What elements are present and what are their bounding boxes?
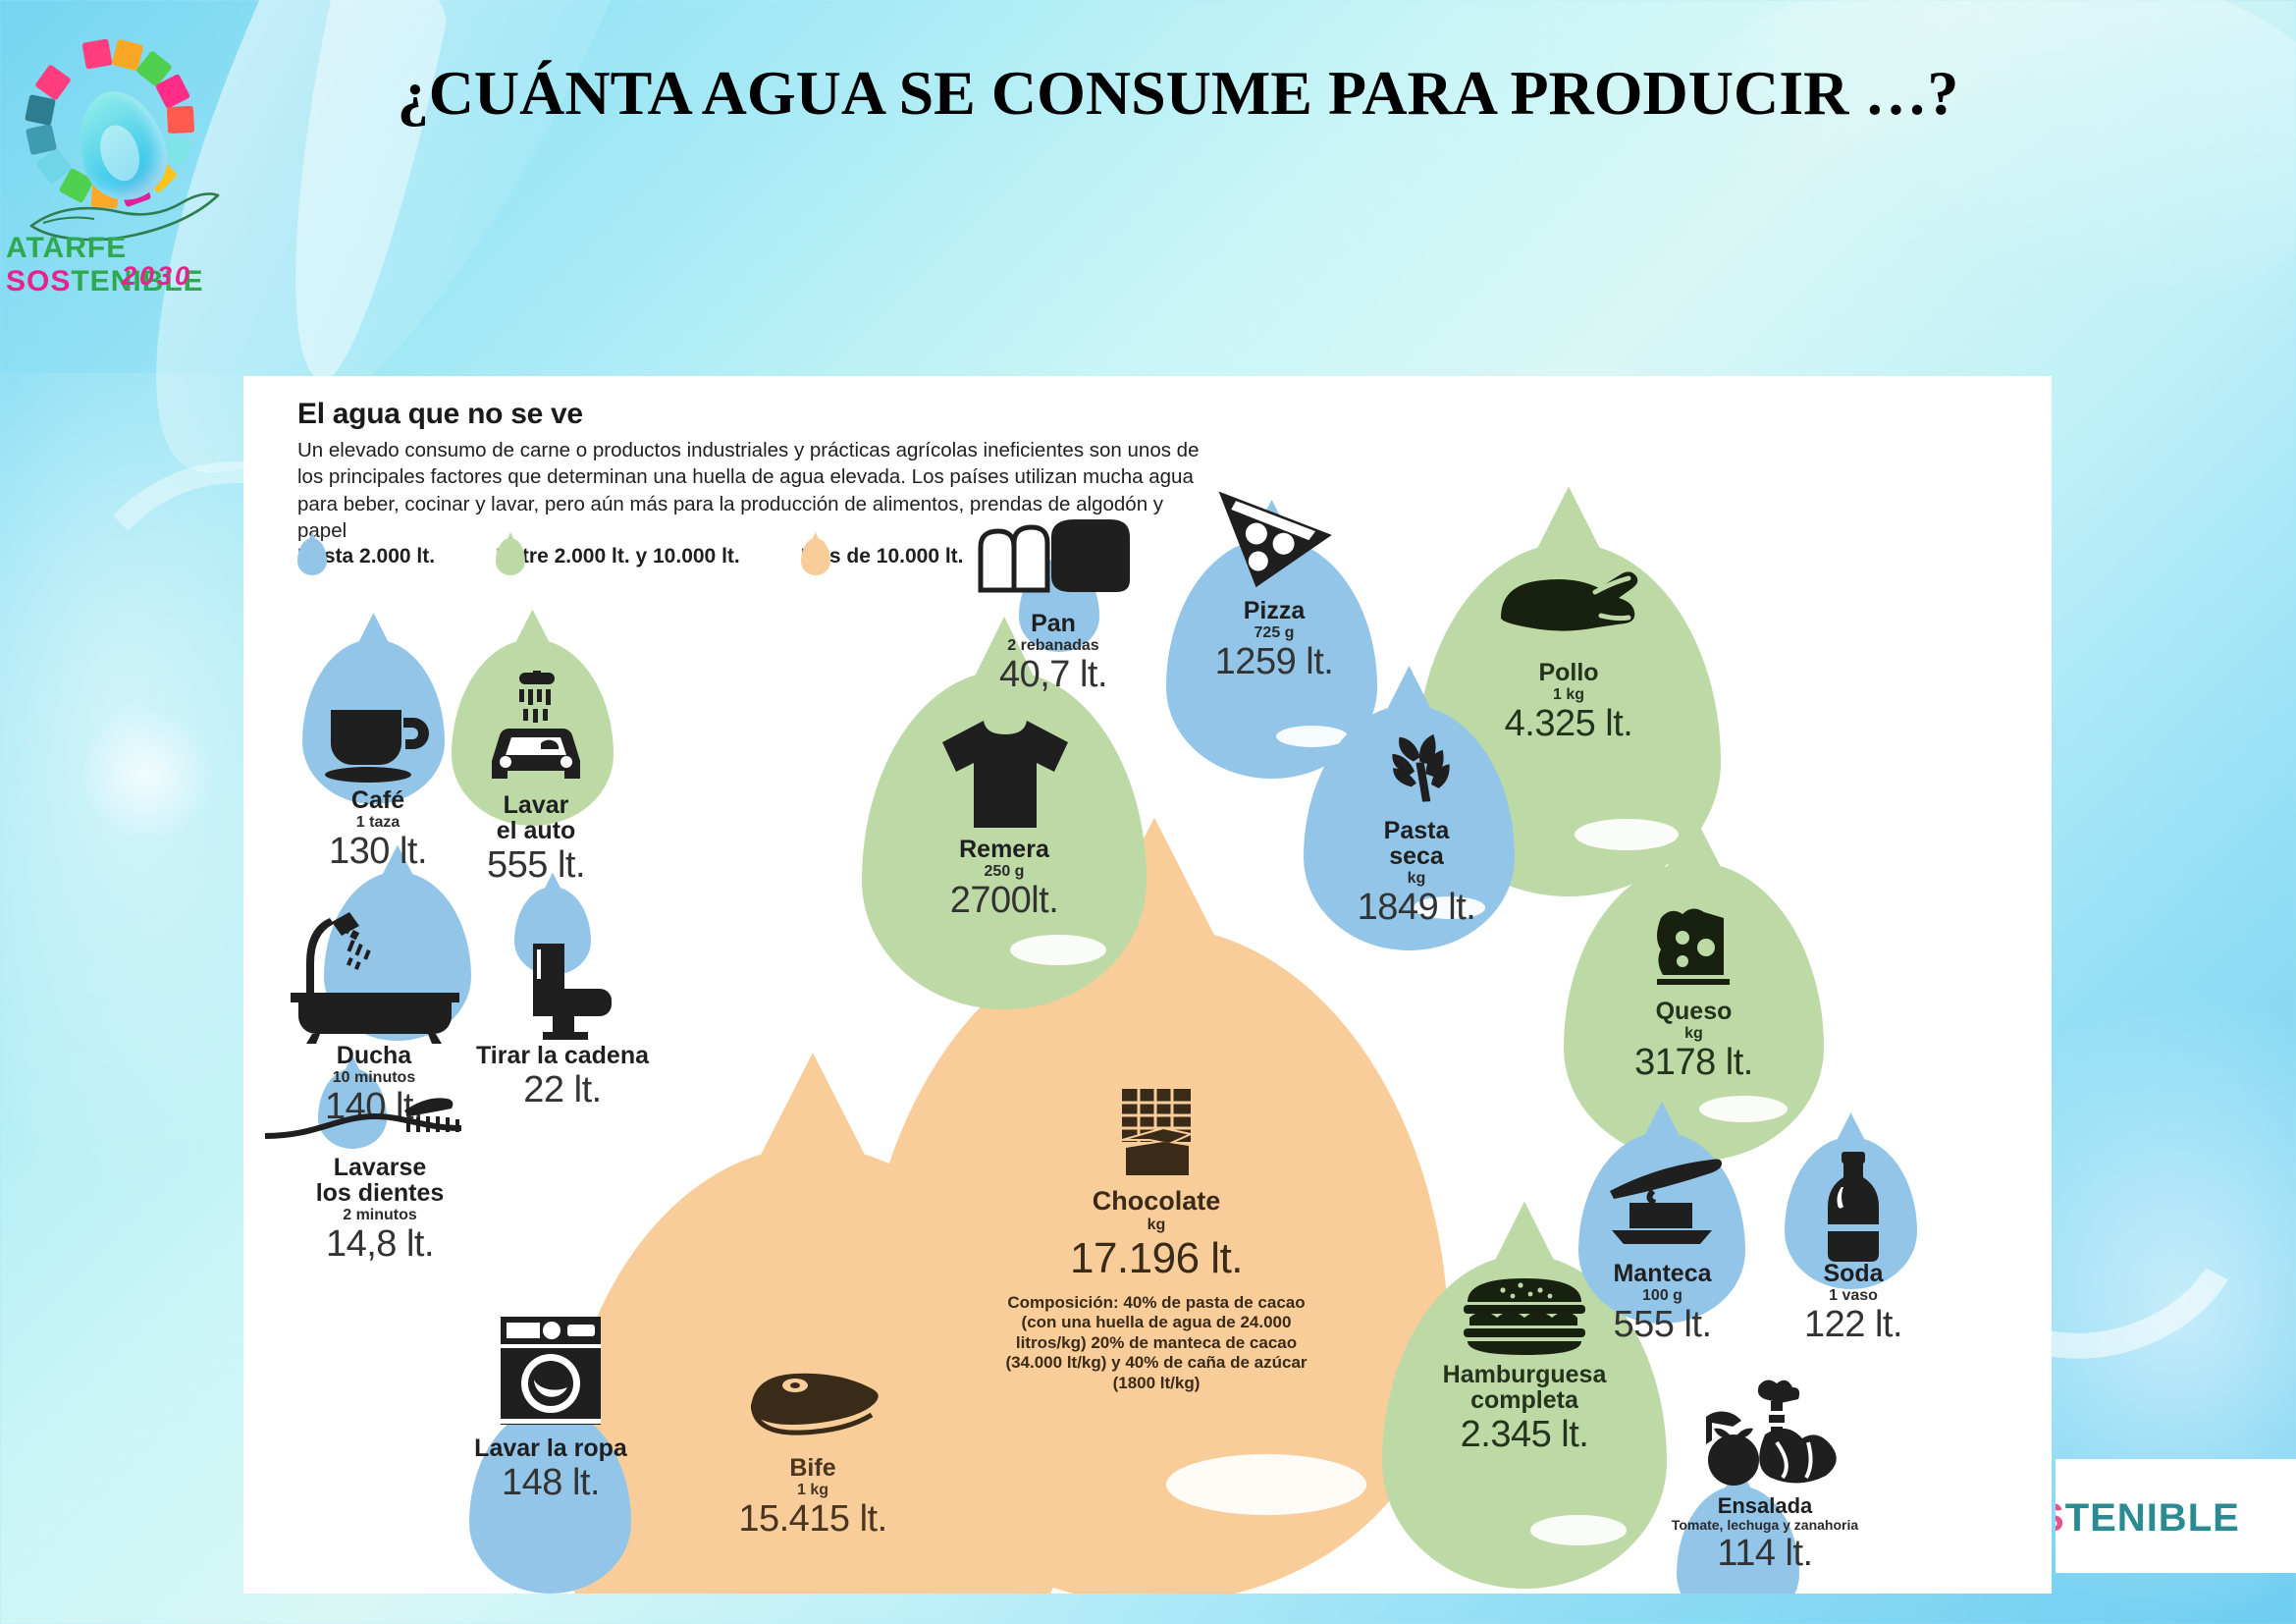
item-pan: Pan 2 rebanadas 40,7 lt. bbox=[931, 514, 1176, 696]
legend: Hasta 2.000 lt. Entre 2.000 lt. y 10.000… bbox=[297, 545, 1025, 568]
item-lavar-auto-value: 555 lt. bbox=[438, 844, 634, 887]
item-chocolate-sublabel: kg bbox=[999, 1217, 1313, 1234]
item-soda-label: Soda bbox=[1760, 1262, 1947, 1287]
item-soda-value: 122 lt. bbox=[1760, 1304, 1947, 1346]
item-tirar-cadena: Tirar la cadena 22 lt. bbox=[440, 926, 685, 1110]
item-bife: Bife 1 kg 15.415 lt. bbox=[666, 1358, 960, 1541]
legend-label-green: Entre 2.000 lt. y 10.000 lt. bbox=[496, 545, 740, 568]
item-pasta-seca: Pasta seca kg 1849 lt. bbox=[1304, 720, 1529, 929]
legend-item-green: Entre 2.000 lt. y 10.000 lt. bbox=[496, 545, 740, 568]
item-ensalada-label: Ensalada bbox=[1618, 1495, 1912, 1518]
item-remera-label: Remera bbox=[881, 838, 1127, 863]
item-bife-sublabel: 1 kg bbox=[666, 1482, 960, 1499]
item-remera-value: 2700lt. bbox=[881, 880, 1127, 922]
item-pan-sublabel: 2 rebanadas bbox=[931, 637, 1176, 655]
page-title: ¿CUÁNTA AGUA SE CONSUME PARA PRODUCIR …? bbox=[245, 61, 2110, 126]
salad-vegetables-icon bbox=[1686, 1378, 1843, 1495]
corner-logo: STENIBLE bbox=[2056, 1459, 2296, 1573]
hamburger-icon bbox=[1456, 1274, 1593, 1363]
item-chocolate-label: Chocolate bbox=[999, 1186, 1313, 1217]
item-lavar-ropa: Lavar la ropa 148 lt. bbox=[428, 1309, 673, 1503]
item-tirar-cadena-label: Tirar la cadena bbox=[440, 1044, 685, 1069]
item-pan-value: 40,7 lt. bbox=[931, 654, 1176, 696]
toothbrush-icon bbox=[257, 1093, 503, 1156]
item-ensalada-value: 114 lt. bbox=[1618, 1533, 1912, 1575]
item-remera-sublabel: 250 g bbox=[881, 863, 1127, 881]
car-wash-icon bbox=[472, 671, 600, 793]
item-pasta-seca-value: 1849 lt. bbox=[1304, 887, 1529, 929]
infographic-card: El agua que no se ve Un elevado consumo … bbox=[243, 376, 2052, 1594]
item-queso-label: Queso bbox=[1564, 1000, 1824, 1025]
item-pollo: Pollo 1 kg 4.325 lt. bbox=[1412, 563, 1726, 745]
item-chocolate-composition: Composición: 40% de pasta de cacao (con … bbox=[999, 1293, 1313, 1393]
brand-year: 2030 bbox=[122, 261, 192, 292]
corner-logo-text: STENIBLE bbox=[2056, 1496, 2240, 1541]
cheese-icon bbox=[1635, 896, 1753, 1000]
item-soda-sublabel: 1 vaso bbox=[1760, 1287, 1947, 1305]
butter-icon bbox=[1596, 1152, 1729, 1262]
item-lavar-ropa-value: 148 lt. bbox=[428, 1462, 673, 1504]
item-pan-label: Pan bbox=[931, 612, 1176, 637]
steak-icon bbox=[734, 1358, 891, 1456]
infographic-title: El agua que no se ve bbox=[297, 398, 583, 431]
pizza-slice-icon bbox=[1205, 474, 1343, 597]
item-lavarse-dientes-value: 14,8 lt. bbox=[243, 1223, 522, 1266]
soda-bottle-icon bbox=[1809, 1152, 1897, 1262]
corner-logo-text-pink: S bbox=[2056, 1496, 2065, 1540]
item-pollo-label: Pollo bbox=[1412, 661, 1726, 686]
item-bife-value: 15.415 lt. bbox=[666, 1498, 960, 1541]
item-bife-label: Bife bbox=[666, 1456, 960, 1482]
item-ensalada-sublabel: Tomate, lechuga y zanahoria bbox=[1618, 1518, 1912, 1533]
brand-name-part1: ATARFE bbox=[6, 232, 127, 264]
background-swoosh bbox=[1669, 0, 2296, 334]
bread-icon bbox=[975, 514, 1132, 612]
corner-logo-text-teal: TENIBLE bbox=[2065, 1496, 2240, 1540]
item-pizza: Pizza 725 g 1259 lt. bbox=[1156, 474, 1392, 683]
item-ensalada: Ensalada Tomate, lechuga y zanahoria 114… bbox=[1618, 1378, 1912, 1575]
sdg-ring-segment bbox=[82, 38, 113, 69]
toilet-icon bbox=[504, 926, 621, 1044]
item-lavar-ropa-label: Lavar la ropa bbox=[428, 1436, 673, 1462]
item-lavarse-dientes-label: Lavarse los dientes bbox=[243, 1156, 522, 1207]
item-chocolate: Chocolate kg 17.196 lt. Composición: 40%… bbox=[999, 1083, 1313, 1393]
coffee-cup-icon bbox=[319, 690, 437, 788]
tshirt-icon bbox=[938, 715, 1071, 838]
item-lavar-auto: Lavar el auto 555 lt. bbox=[438, 671, 634, 886]
washing-machine-icon bbox=[487, 1309, 614, 1436]
item-queso-sublabel: kg bbox=[1564, 1025, 1824, 1043]
item-pizza-value: 1259 lt. bbox=[1156, 641, 1392, 683]
item-pasta-seca-sublabel: kg bbox=[1304, 870, 1529, 888]
item-chocolate-value: 17.196 lt. bbox=[999, 1234, 1313, 1283]
item-remera: Remera 250 g 2700lt. bbox=[881, 715, 1127, 922]
chocolate-bar-icon bbox=[1102, 1083, 1210, 1186]
chicken-icon bbox=[1485, 563, 1652, 661]
background-swoosh bbox=[79, 707, 216, 844]
item-pizza-label: Pizza bbox=[1156, 599, 1392, 624]
legend-drop-icon-orange bbox=[801, 538, 830, 575]
item-lavarse-dientes-sublabel: 2 minutos bbox=[243, 1207, 522, 1224]
sdg-ring-segment bbox=[26, 94, 57, 126]
item-pollo-sublabel: 1 kg bbox=[1412, 686, 1726, 704]
item-lavar-auto-label: Lavar el auto bbox=[438, 793, 634, 844]
legend-item-blue: Hasta 2.000 lt. bbox=[297, 545, 435, 568]
wheat-icon bbox=[1358, 720, 1475, 823]
item-queso: Queso kg 3178 lt. bbox=[1564, 896, 1824, 1084]
item-pasta-seca-label: Pasta seca bbox=[1304, 819, 1529, 870]
item-pizza-sublabel: 725 g bbox=[1156, 624, 1392, 642]
brand-name-sos: SOS bbox=[6, 265, 71, 298]
item-lavarse-dientes: Lavarse los dientes 2 minutos 14,8 lt. bbox=[243, 1093, 522, 1266]
sdg-ring-segment bbox=[167, 106, 194, 134]
item-soda: Soda 1 vaso 122 lt. bbox=[1760, 1152, 1947, 1346]
item-queso-value: 3178 lt. bbox=[1564, 1042, 1824, 1084]
